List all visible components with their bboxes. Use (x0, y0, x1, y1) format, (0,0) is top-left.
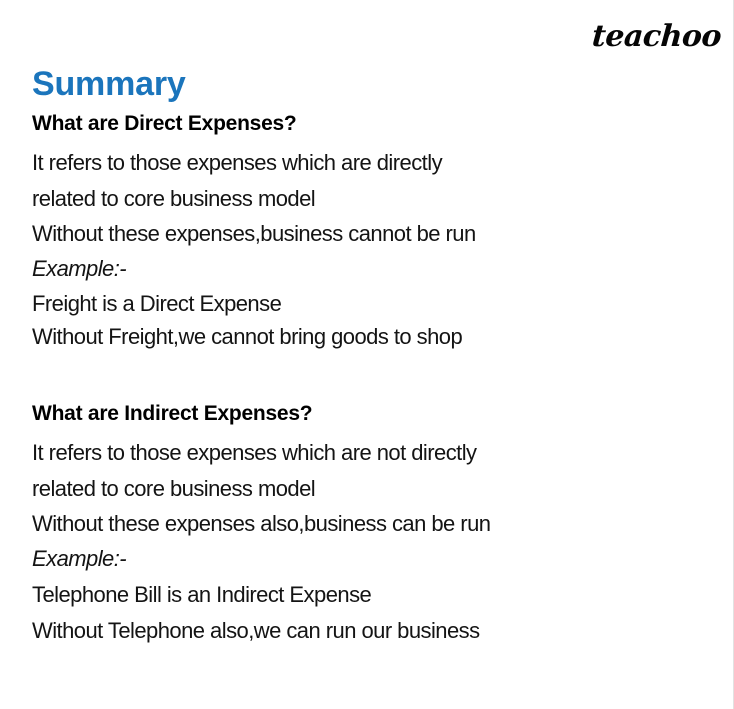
section-heading-indirect-expenses: What are Indirect Expenses? (32, 398, 702, 430)
slide-canvas: teachoo Summary What are Direct Expenses… (0, 0, 734, 709)
example-line: Freight is a Direct Expense (32, 287, 702, 320)
example-line: Telephone Bill is an Indirect Expense (32, 577, 702, 613)
definition-line: Without these expenses also,business can… (32, 507, 702, 540)
example-line: Without Telephone also,we can run our bu… (32, 613, 702, 649)
section-direct-expenses: What are Direct Expenses? It refers to t… (32, 108, 702, 353)
example-label: Example:- (32, 540, 702, 577)
definition-line: related to core business model (32, 181, 702, 217)
example-label: Example:- (32, 250, 702, 287)
summary-content: What are Direct Expenses? It refers to t… (32, 108, 702, 649)
page-title: Summary (32, 65, 186, 103)
section-heading-direct-expenses: What are Direct Expenses? (32, 108, 702, 140)
teachoo-logo: teachoo (591, 20, 722, 54)
definition-line: It refers to those expenses which are di… (32, 145, 702, 181)
section-indirect-expenses: What are Indirect Expenses? It refers to… (32, 398, 702, 649)
definition-line: Without these expenses,business cannot b… (32, 217, 702, 250)
definition-line: It refers to those expenses which are no… (32, 435, 702, 471)
definition-line: related to core business model (32, 471, 702, 507)
example-line: Without Freight,we cannot bring goods to… (32, 320, 702, 353)
